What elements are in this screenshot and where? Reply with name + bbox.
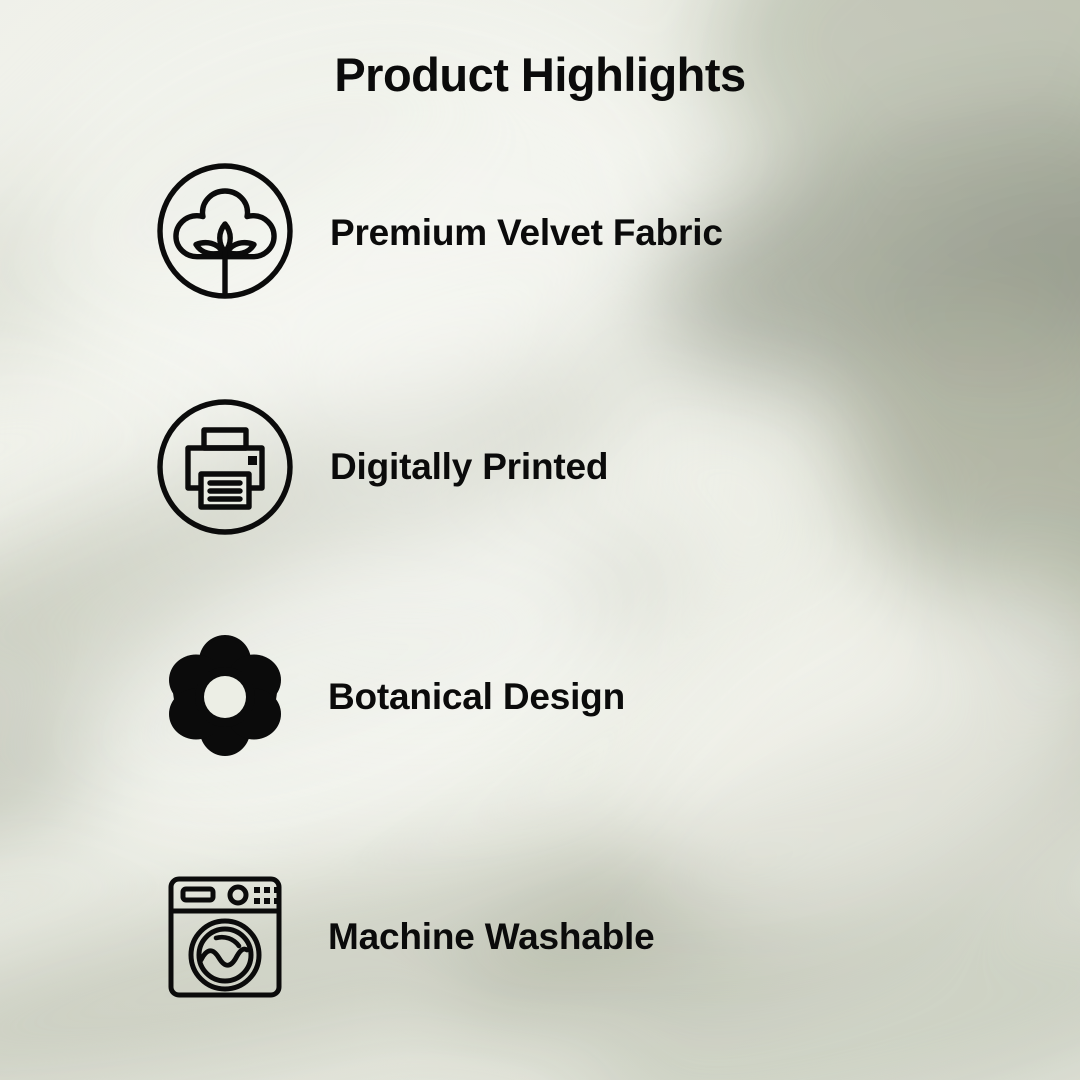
feature-item-premium-velvet-fabric[interactable]: Premium Velvet Fabric xyxy=(150,158,970,308)
feature-label: Digitally Printed xyxy=(330,446,608,488)
content-layer: Product Highlights Premium Vel xyxy=(0,0,1080,1080)
feature-item-digitally-printed[interactable]: Digitally Printed xyxy=(150,392,970,542)
flower-icon xyxy=(150,627,300,767)
feature-label: Botanical Design xyxy=(328,676,625,718)
washing-machine-icon xyxy=(150,867,300,1007)
feature-label: Premium Velvet Fabric xyxy=(330,212,723,254)
cotton-boll-circle-icon xyxy=(150,160,300,306)
product-highlights-card: Product Highlights Premium Vel xyxy=(0,0,1080,1080)
printer-circle-icon xyxy=(150,394,300,540)
feature-item-machine-washable[interactable]: Machine Washable xyxy=(150,862,970,1012)
page-title: Product Highlights xyxy=(0,47,1080,102)
feature-item-botanical-design[interactable]: Botanical Design xyxy=(150,622,970,772)
feature-label: Machine Washable xyxy=(328,916,654,958)
